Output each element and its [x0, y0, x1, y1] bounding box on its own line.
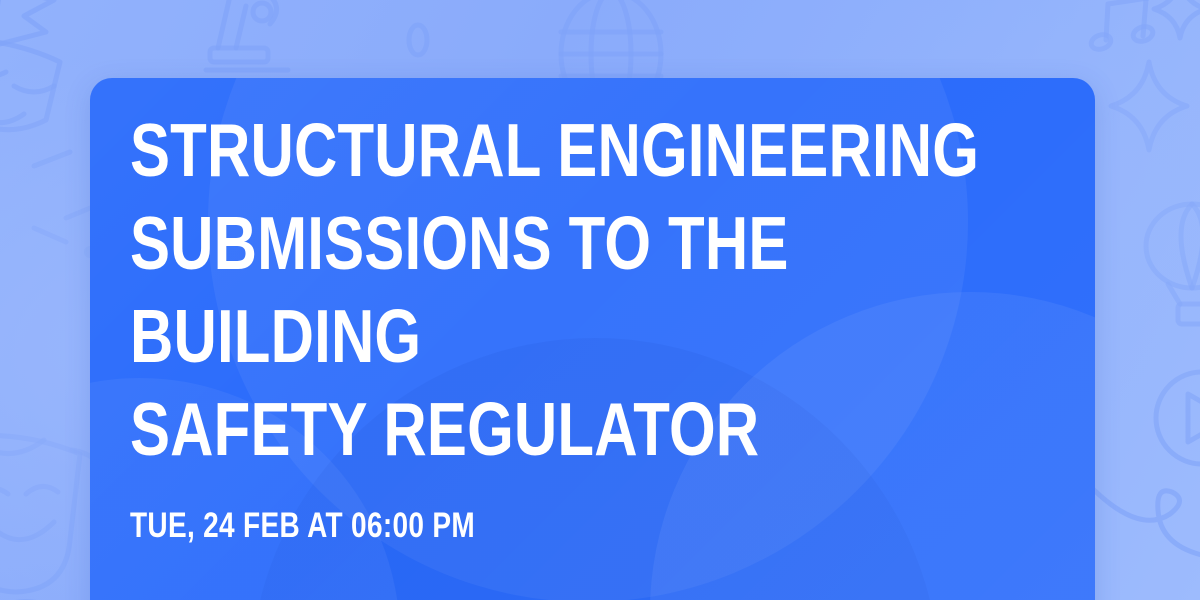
- sparkle-icon: [1150, 0, 1200, 42]
- squiggle-line-icon: [1092, 466, 1200, 600]
- event-title: STRUCTURAL ENGINEERING SUBMISSIONS TO TH…: [130, 104, 1065, 476]
- sparkle-icon: [1104, 56, 1194, 156]
- hot-air-balloon-icon: [1128, 196, 1200, 336]
- play-button-icon: [1144, 360, 1200, 480]
- flag-icon: [0, 0, 64, 52]
- dash-marks-icon: [28, 140, 98, 180]
- event-card: STRUCTURAL ENGINEERING SUBMISSIONS TO TH…: [90, 78, 1095, 600]
- card-content: STRUCTURAL ENGINEERING SUBMISSIONS TO TH…: [130, 104, 1065, 546]
- event-datetime: TUE, 24 FEB AT 06:00 PM: [130, 506, 1065, 546]
- event-banner: STRUCTURAL ENGINEERING SUBMISSIONS TO TH…: [0, 0, 1200, 600]
- abstract-shape-icon: [0, 552, 90, 600]
- music-note-icon: [1092, 0, 1162, 56]
- microscope-icon: [188, 0, 308, 88]
- teardrop-icon: [400, 16, 436, 62]
